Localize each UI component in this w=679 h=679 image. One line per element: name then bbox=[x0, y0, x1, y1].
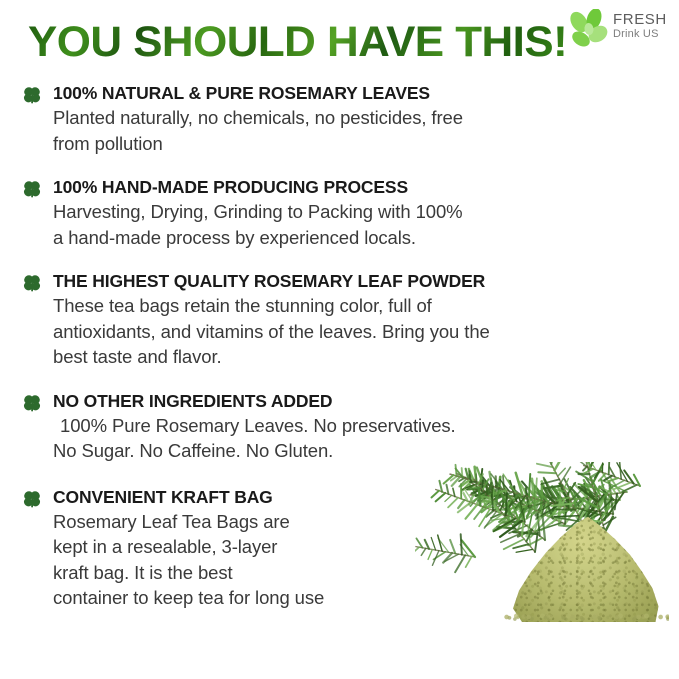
list-item: THE HIGHEST QUALITY ROSEMARY LEAF POWDER… bbox=[0, 270, 679, 370]
clover-icon bbox=[22, 85, 42, 105]
feature-body-line: container to keep tea for long use bbox=[53, 585, 453, 611]
list-item: 100% HAND-MADE PRODUCING PROCESS Harvest… bbox=[0, 176, 679, 250]
brand-logo: FRESH Drink US bbox=[565, 8, 673, 54]
feature-body: Harvesting, Drying, Grinding to Packing … bbox=[53, 199, 613, 250]
feature-title: THE HIGHEST QUALITY ROSEMARY LEAF POWDER bbox=[53, 270, 679, 292]
feature-title: 100% HAND-MADE PRODUCING PROCESS bbox=[53, 176, 679, 198]
feature-body-line: These tea bags retain the stunning color… bbox=[53, 293, 613, 319]
brand-name: FRESH bbox=[613, 11, 673, 28]
feature-body: 100% Pure Rosemary Leaves. No preservati… bbox=[53, 413, 613, 464]
feature-body-line: from pollution bbox=[53, 131, 613, 157]
page-title: YOU SHOULD HAVE THIS! bbox=[28, 17, 567, 67]
clover-icon bbox=[22, 489, 42, 509]
leaf-cluster-icon bbox=[567, 9, 611, 51]
clover-icon bbox=[22, 393, 42, 413]
brand-wordmark: FRESH Drink US bbox=[613, 11, 673, 41]
powder-spill bbox=[504, 610, 669, 626]
feature-body-line: No Sugar. No Caffeine. No Gluten. bbox=[53, 438, 613, 464]
clover-icon bbox=[22, 273, 42, 293]
list-item: 100% NATURAL & PURE ROSEMARY LEAVES Plan… bbox=[0, 82, 679, 156]
feature-body-line: best taste and flavor. bbox=[53, 344, 613, 370]
product-feature-poster: YOU SHOULD HAVE THIS! FRESH Drink US bbox=[0, 0, 679, 679]
feature-body-line: kept in a resealable, 3-layer bbox=[53, 534, 453, 560]
clover-icon bbox=[22, 179, 42, 199]
rosemary-sprigs-and-powder-photo bbox=[415, 462, 679, 679]
feature-body-line: Planted naturally, no chemicals, no pest… bbox=[53, 105, 613, 131]
feature-body-line: kraft bag. It is the best bbox=[53, 560, 453, 586]
powder-grain-texture bbox=[510, 510, 660, 622]
feature-body-line: Harvesting, Drying, Grinding to Packing … bbox=[53, 199, 613, 225]
feature-body: These tea bags retain the stunning color… bbox=[53, 293, 613, 370]
feature-body: Rosemary Leaf Tea Bags are kept in a res… bbox=[53, 509, 453, 611]
feature-title: NO OTHER INGREDIENTS ADDED bbox=[53, 390, 679, 412]
rosemary-powder-mound bbox=[510, 510, 660, 622]
poster-header: YOU SHOULD HAVE THIS! FRESH Drink US bbox=[0, 0, 679, 78]
feature-title: 100% NATURAL & PURE ROSEMARY LEAVES bbox=[53, 82, 679, 104]
list-item: NO OTHER INGREDIENTS ADDED 100% Pure Ros… bbox=[0, 390, 679, 464]
feature-body-line: 100% Pure Rosemary Leaves. No preservati… bbox=[53, 413, 613, 439]
feature-body-line: Rosemary Leaf Tea Bags are bbox=[53, 509, 453, 535]
feature-body-line: a hand-made process by experienced local… bbox=[53, 225, 613, 251]
feature-body-line: antioxidants, and vitamins of the leaves… bbox=[53, 319, 613, 345]
feature-body: Planted naturally, no chemicals, no pest… bbox=[53, 105, 613, 156]
brand-tagline: Drink US bbox=[613, 28, 673, 41]
